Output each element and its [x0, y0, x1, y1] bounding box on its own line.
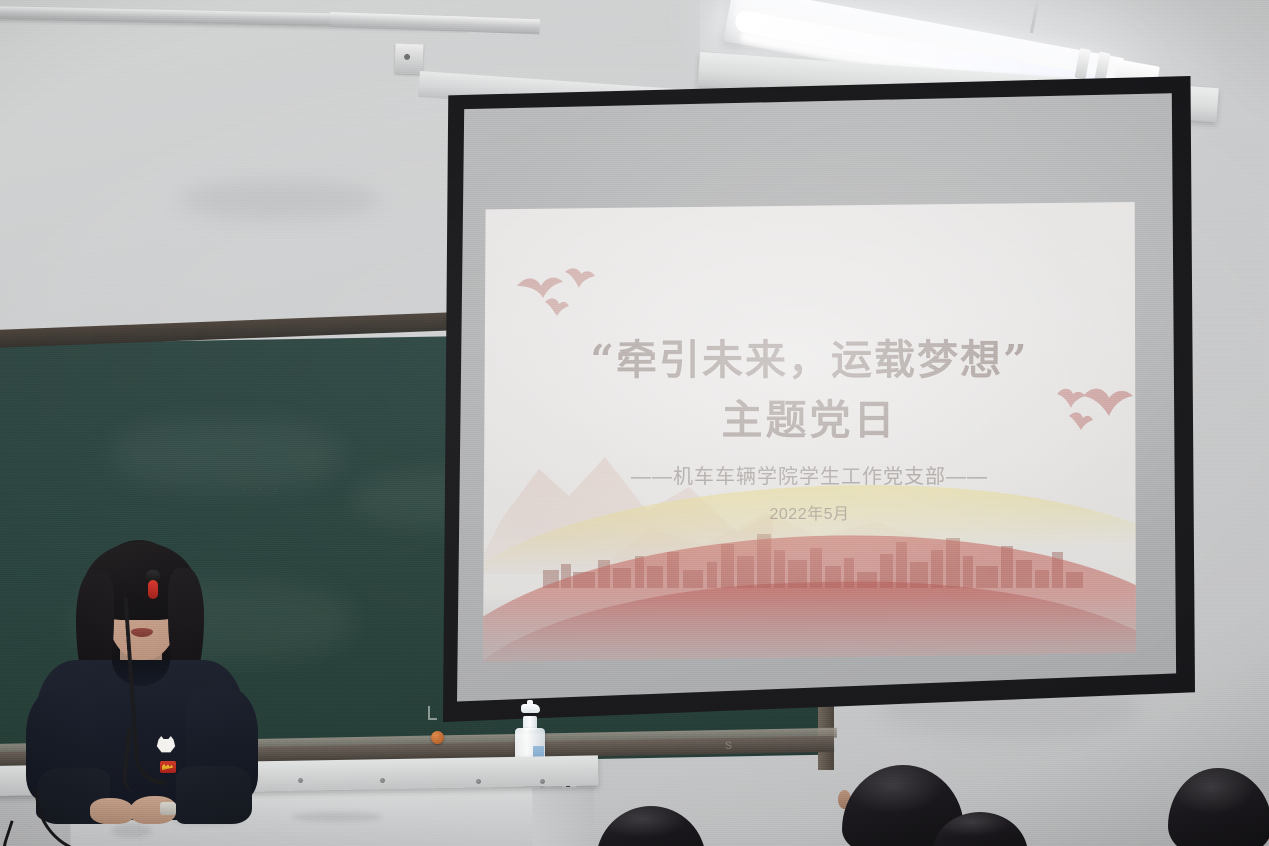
gooseneck-microphone [100, 578, 190, 808]
slide-date: 2022年5月 [483, 500, 1136, 524]
podium-bolt [380, 778, 385, 783]
slide-title-line-2: 主题党日 [483, 386, 1136, 446]
orange-magnet-icon [431, 731, 444, 744]
flying-birds-icon [511, 264, 607, 326]
podium-bolt [476, 779, 481, 784]
classroom-photo-scene: Redleaf · · · s [0, 0, 1269, 846]
podium-scuff [292, 812, 382, 822]
projected-slide: “牵引未来，运载梦想” 主题党日 ——机车车辆学院学生工作党支部—— 2022年… [483, 202, 1136, 662]
chalk-mark: s [725, 736, 739, 748]
wall-smudge [180, 180, 380, 220]
faint-chalk-writing: · · · [242, 480, 281, 498]
podium-bolt [540, 779, 545, 784]
chalk-smear [112, 420, 342, 490]
podium-side-panel [532, 787, 595, 846]
pump-head-icon [521, 704, 540, 713]
podium-bolt [298, 778, 303, 783]
board-hook-icon [428, 706, 437, 720]
slide-title-line-1: “牵引未来，运载梦想” [483, 326, 1136, 386]
slide-subtitle: ——机车车辆学院学生工作党支部—— [483, 460, 1136, 489]
slide-bottom-fade [483, 592, 1136, 662]
rail-bracket [394, 44, 423, 75]
